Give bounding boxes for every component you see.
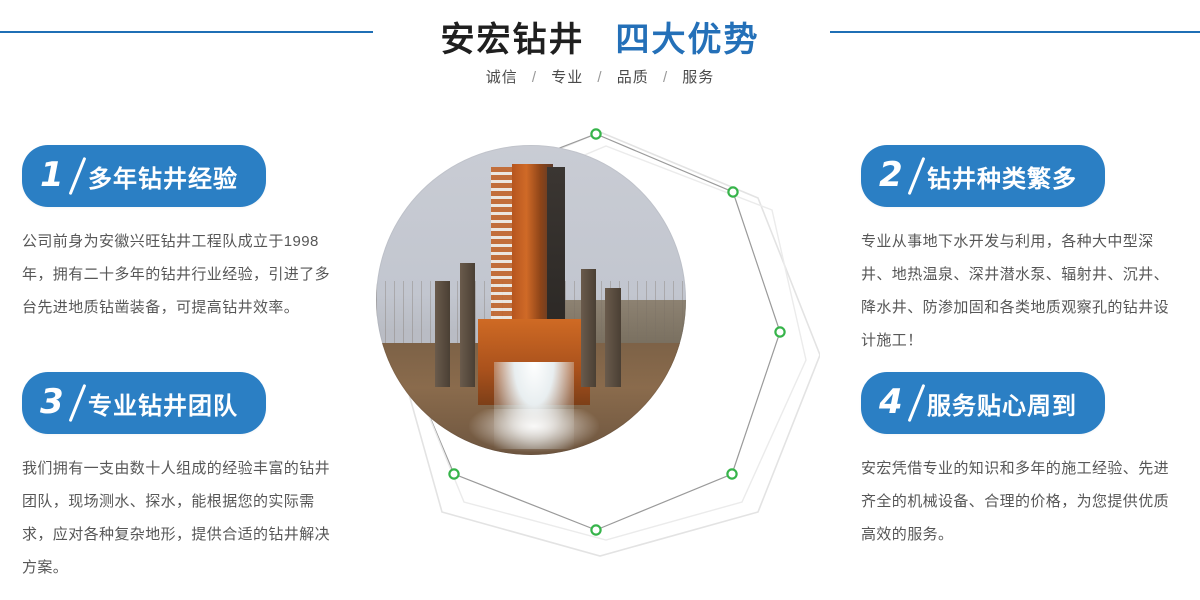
- subtitle-separator-2: /: [663, 69, 668, 86]
- advantage-title-2: 钻井种类繁多: [927, 159, 1077, 194]
- section-header: 安宏钻井 四大优势 诚信 / 专业 / 品质 / 服务: [0, 0, 1200, 110]
- page-title-primary: 安宏钻井: [441, 21, 585, 59]
- subtitle-item-3: 服务: [682, 69, 714, 86]
- advantage-title-3: 专业钻井团队: [88, 386, 238, 421]
- subtitle: 诚信 / 专业 / 品质 / 服务: [0, 66, 1200, 87]
- advantage-title-1: 多年钻井经验: [88, 159, 238, 194]
- advantage-body-1: 公司前身为安徽兴旺钻井工程队成立于1998年，拥有二十多年的钻井行业经验，引进了…: [22, 225, 330, 324]
- badge-number-4: 4: [879, 381, 919, 425]
- page-title: 安宏钻井 四大优势: [0, 12, 1200, 61]
- advantages-section: 安宏钻井 四大优势 诚信 / 专业 / 品质 / 服务 1 多年钻井经验 公司前…: [0, 0, 1200, 600]
- advantage-badge-1[interactable]: 1 多年钻井经验: [22, 145, 266, 207]
- subtitle-separator-0: /: [532, 69, 537, 86]
- advantage-body-2: 专业从事地下水开发与利用，各种大中型深井、地热温泉、深井潜水泵、辐射井、沉井、降…: [861, 225, 1181, 357]
- advantage-card-2[interactable]: 2 钻井种类繁多 专业从事地下水开发与利用，各种大中型深井、地热温泉、深井潜水泵…: [861, 145, 1191, 357]
- advantage-badge-2[interactable]: 2 钻井种类繁多: [861, 145, 1105, 207]
- advantage-card-3[interactable]: 3 专业钻井团队 我们拥有一支由数十人组成的经验丰富的钻井团队，现场测水、探水，…: [22, 372, 352, 584]
- badge-number-glyph: 1: [40, 153, 80, 197]
- subtitle-item-0: 诚信: [486, 69, 518, 86]
- advantage-card-4[interactable]: 4 服务贴心周到 安宏凭借专业的知识和多年的施工经验、先进齐全的机械设备、合理的…: [861, 372, 1191, 551]
- polygon-node-right: [775, 327, 784, 336]
- badge-number-1: 1: [40, 154, 80, 198]
- advantage-body-4: 安宏凭借专业的知识和多年的施工经验、先进齐全的机械设备、合理的价格，为您提供优质…: [861, 452, 1181, 551]
- subtitle-item-2: 品质: [617, 69, 649, 86]
- badge-number-glyph: 3: [40, 380, 80, 424]
- subtitle-item-1: 专业: [551, 69, 583, 86]
- badge-number-glyph: 4: [879, 380, 919, 424]
- advantage-badge-3[interactable]: 3 专业钻井团队: [22, 372, 266, 434]
- polygon-node-bottom-left: [449, 469, 458, 478]
- polygon-node-bottom-right: [727, 469, 736, 478]
- badge-number-3: 3: [40, 381, 80, 425]
- polygon-node-bottom: [591, 525, 600, 534]
- advantage-title-4: 服务贴心周到: [927, 386, 1077, 421]
- center-graphic: [380, 110, 820, 570]
- photo-circle-border: [376, 145, 686, 455]
- subtitle-separator-1: /: [597, 69, 602, 86]
- advantage-card-1[interactable]: 1 多年钻井经验 公司前身为安徽兴旺钻井工程队成立于1998年，拥有二十多年的钻…: [22, 145, 352, 324]
- badge-number-2: 2: [879, 154, 919, 198]
- polygon-node-top: [591, 129, 600, 138]
- badge-number-glyph: 2: [879, 153, 919, 197]
- polygon-node-top-right: [728, 187, 737, 196]
- page-title-accent: 四大优势: [615, 21, 759, 59]
- advantage-body-3: 我们拥有一支由数十人组成的经验丰富的钻井团队，现场测水、探水，能根据您的实际需求…: [22, 452, 330, 584]
- advantage-badge-4[interactable]: 4 服务贴心周到: [861, 372, 1105, 434]
